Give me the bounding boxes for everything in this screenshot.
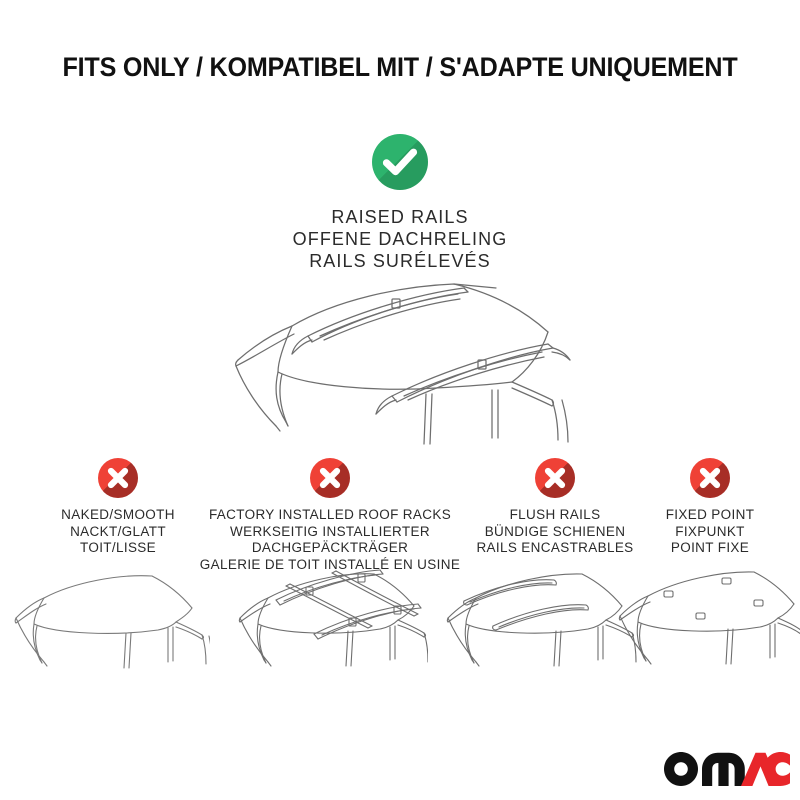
logo-letter-m [702, 753, 745, 786]
compatible-label-de: OFFENE DACHRELING [0, 228, 800, 250]
incompatible-labels: FIXED POINT FIXPUNKT POINT FIXE [620, 507, 800, 557]
check-circle-icon [372, 134, 428, 190]
fitment-info-graphic: FITS ONLY / KOMPATIBEL MIT / S'ADAPTE UN… [0, 0, 800, 800]
cross-circle-icon [535, 458, 575, 498]
incompatible-label-en: FIXED POINT [620, 507, 800, 524]
compatible-labels: RAISED RAILS OFFENE DACHRELING RAILS SUR… [0, 206, 800, 272]
cross-mark-icon [98, 458, 138, 498]
incompatible-label-fr: POINT FIXE [620, 540, 800, 557]
logo-letter-o [664, 752, 698, 786]
incompatible-label-en: NAKED/SMOOTH [18, 507, 218, 524]
smooth-roof-illustration [10, 566, 210, 716]
incompatible-item-naked-smooth: NAKED/SMOOTH NACKT/GLATT TOIT/LISSE [18, 458, 218, 557]
factory-roof-rack-illustration [228, 556, 428, 711]
incompatible-label-de-1: WERKSEITIG INSTALLIERTER [190, 524, 470, 541]
check-mark-icon [372, 134, 428, 190]
cross-circle-icon [98, 458, 138, 498]
incompatible-labels: NAKED/SMOOTH NACKT/GLATT TOIT/LISSE [18, 507, 218, 557]
cross-circle-icon [310, 458, 350, 498]
fixed-point-roof-illustration [612, 560, 800, 710]
raised-rails-roof-illustration [196, 276, 606, 452]
incompatible-label-de: FIXPUNKT [620, 524, 800, 541]
incompatible-label-fr: TOIT/LISSE [18, 540, 218, 557]
incompatible-label-de-2: DACHGEPÄCKTRÄGER [190, 540, 470, 557]
omac-logo [664, 752, 790, 786]
incompatible-label-en: FACTORY INSTALLED ROOF RACKS [190, 507, 470, 524]
incompatible-item-fixed-point: FIXED POINT FIXPUNKT POINT FIXE [620, 458, 800, 557]
cross-circle-icon [690, 458, 730, 498]
incompatible-label-de: NACKT/GLATT [18, 524, 218, 541]
cross-mark-icon [690, 458, 730, 498]
flush-rails-roof-illustration [438, 560, 638, 710]
cross-mark-icon [310, 458, 350, 498]
compatible-section: RAISED RAILS OFFENE DACHRELING RAILS SUR… [0, 134, 800, 272]
compatible-label-fr: RAILS SURÉLEVÉS [0, 250, 800, 272]
cross-mark-icon [535, 458, 575, 498]
page-title: FITS ONLY / KOMPATIBEL MIT / S'ADAPTE UN… [28, 52, 772, 83]
compatible-label-en: RAISED RAILS [0, 206, 800, 228]
